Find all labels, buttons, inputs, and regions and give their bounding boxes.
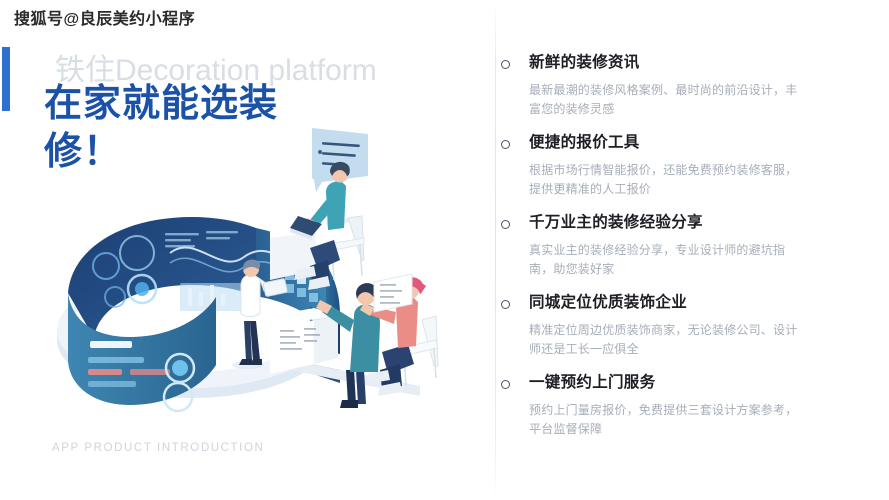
bullet-circle-icon <box>501 300 510 309</box>
hero-caption: APP PRODUCT INTRODUCTION <box>52 442 264 454</box>
hero-illustration-people <box>270 120 495 410</box>
feature-item[interactable]: 千万业主的装修经验分享 真实业主的装修经验分享，专业设计师的避坑指南，助您装好家 <box>495 212 889 279</box>
feature-title: 同城定位优质装饰企业 <box>529 292 871 314</box>
right-panel: 新鲜的装修资讯 最新最潮的装修风格案例、最时尚的前沿设计，丰富您的装修灵感 便捷… <box>495 0 889 500</box>
feature-title: 千万业主的装修经验分享 <box>529 212 871 234</box>
watermark-text: 搜狐号@良辰美约小程序 <box>14 5 195 29</box>
bullet-circle-icon <box>501 380 510 389</box>
feature-list: 新鲜的装修资讯 最新最潮的装修风格案例、最时尚的前沿设计，丰富您的装修灵感 便捷… <box>495 52 889 452</box>
slide-root: 搜狐号@良辰美约小程序 铁住Decoration platform 在家就能选装… <box>0 0 889 500</box>
bullet-circle-icon <box>501 220 510 229</box>
feature-description: 最新最潮的装修风格案例、最时尚的前沿设计，丰富您的装修灵感 <box>529 81 807 119</box>
feature-item[interactable]: 同城定位优质装饰企业 精准定位周边优质装饰商家，无论装修公司、设计师还是工长一应… <box>495 292 889 359</box>
bullet-circle-icon <box>501 60 510 69</box>
left-panel: 铁住Decoration platform 在家就能选装修！ APP PRODU… <box>0 0 495 500</box>
feature-description: 精准定位周边优质装饰商家，无论装修公司、设计师还是工长一应俱全 <box>529 321 807 359</box>
panel-divider <box>495 0 496 500</box>
feature-title: 便捷的报价工具 <box>529 132 871 154</box>
bullet-circle-icon <box>501 140 510 149</box>
feature-description: 根据市场行情智能报价，还能免费预约装修客服，提供更精准的人工报价 <box>529 161 807 199</box>
feature-title: 一键预约上门服务 <box>529 372 871 394</box>
feature-description: 预约上门量房报价，免费提供三套设计方案参考，平台监督保障 <box>529 401 807 439</box>
feature-description: 真实业主的装修经验分享，专业设计师的避坑指南，助您装好家 <box>529 241 807 279</box>
feature-item[interactable]: 便捷的报价工具 根据市场行情智能报价，还能免费预约装修客服，提供更精准的人工报价 <box>495 132 889 199</box>
feature-title: 新鲜的装修资讯 <box>529 52 871 74</box>
feature-item[interactable]: 新鲜的装修资讯 最新最潮的装修风格案例、最时尚的前沿设计，丰富您的装修灵感 <box>495 52 889 119</box>
left-accent-bar <box>2 47 10 111</box>
feature-item[interactable]: 一键预约上门服务 预约上门量房报价，免费提供三套设计方案参考，平台监督保障 <box>495 372 889 439</box>
